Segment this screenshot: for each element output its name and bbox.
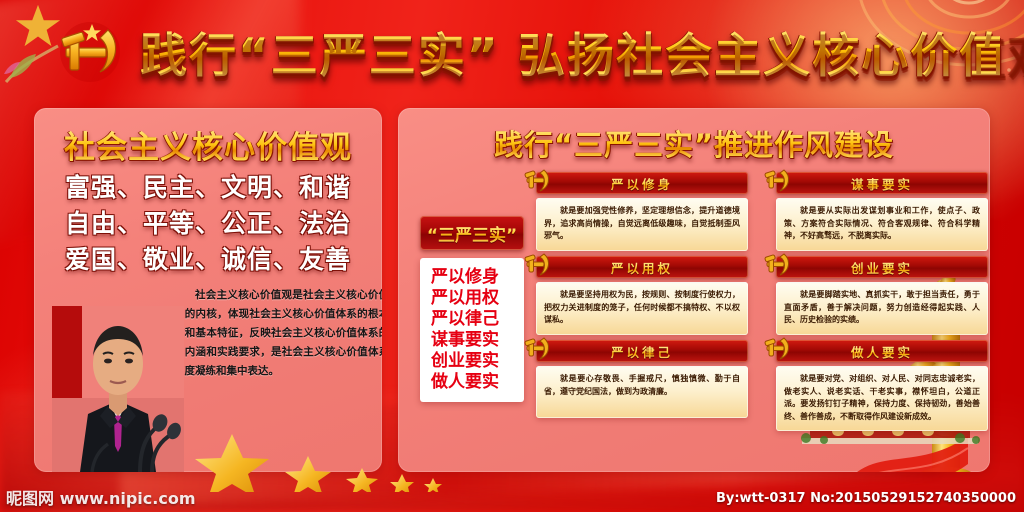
- poster-canvas: 践行“三严三实” 弘扬社会主义核心价值观 社会主义核心价值观 富强、民主、文明、…: [0, 0, 1024, 512]
- info-card-header: 做人要实: [776, 340, 988, 362]
- sanyansanshi-item: 严以律己: [426, 309, 518, 330]
- sanyansanshi-item-label: 严以用权: [431, 288, 499, 309]
- info-card-text: 就是要脚踏实地、真抓实干，敢于担当责任，勇于直面矛盾，善于解决问题，努力创造经得…: [776, 282, 988, 335]
- watermark-left: 昵图网 www.nipic.com: [6, 485, 196, 509]
- info-card-title: 严以修身: [611, 174, 673, 193]
- sanyansanshi-item-label: 谋事要实: [431, 330, 499, 351]
- info-card-header: 谋事要实: [776, 172, 988, 194]
- info-card-text: 就是要从实际出发谋划事业和工作，使点子、政策、方案符合实际情况、符合客观规律、符…: [776, 198, 988, 251]
- gold-stars-icon: [190, 432, 450, 492]
- sanyansanshi-caption-text: “三严三实”: [427, 221, 517, 246]
- info-card-text: 就是要加强党性修养，坚定理想信念，提升道德境界，追求高尚情操，自觉远离低级趣味，…: [536, 198, 748, 251]
- info-card-text: 就是要心存敬畏、手握戒尺，慎独慎微、勤于自省，遵守党纪国法，做到为政清廉。: [536, 366, 748, 418]
- party-emblem-icon: [520, 250, 554, 278]
- sanyansanshi-item: 做人要实: [426, 372, 518, 393]
- sanyansanshi-block: “三严三实” 严以修身 严以用权 严以律己 谋事要实 创业要实: [420, 216, 524, 402]
- core-values-list: 富强、民主、文明、和谐 自由、平等、公正、法治 爱国、敬业、诚信、友善: [34, 170, 382, 278]
- page-title: 践行“三严三实” 弘扬社会主义核心价值观: [140, 18, 1000, 84]
- info-card-title: 创业要实: [851, 258, 913, 277]
- info-card: 严以修身 就是要加强党性修养，坚定理想信念，提升道德境界，追求高尚情操，自觉远离…: [536, 172, 748, 251]
- sanyansanshi-item: 创业要实: [426, 351, 518, 372]
- info-card-title: 严以用权: [611, 258, 673, 277]
- right-panel-heading: 践行“三严三实”推进作风建设: [398, 122, 990, 164]
- info-card: 严以律己 就是要心存敬畏、手握戒尺，慎独慎微、勤于自省，遵守党纪国法，做到为政清…: [536, 340, 748, 418]
- sanyansanshi-item-label: 创业要实: [431, 351, 499, 372]
- sanyansanshi-caption: “三严三实”: [420, 216, 524, 250]
- party-emblem-icon: [760, 250, 794, 278]
- info-card-header: 严以用权: [536, 256, 748, 278]
- info-card-header: 严以律己: [536, 340, 748, 362]
- info-card: 严以用权 就是要坚持用权为民，按规则、按制度行使权力，把权力关进制度的笼子，任何…: [536, 256, 748, 335]
- party-hammer-sickle-emblem-icon: [48, 18, 132, 86]
- core-values-paragraph: 社会主义核心价值观是社会主义核心价值体系的内核，体现社会主义核心价值体系的根本性…: [174, 286, 382, 381]
- party-emblem-icon: [520, 166, 554, 194]
- core-value-line: 富强、民主、文明、和谐: [34, 170, 382, 206]
- sanyansanshi-item-label: 严以律己: [431, 309, 499, 330]
- info-card-title: 严以律己: [611, 342, 673, 361]
- info-card-header: 创业要实: [776, 256, 988, 278]
- core-value-line: 自由、平等、公正、法治: [34, 206, 382, 242]
- party-emblem-icon: [760, 334, 794, 362]
- left-panel: 社会主义核心价值观 富强、民主、文明、和谐 自由、平等、公正、法治 爱国、敬业、…: [34, 108, 382, 472]
- party-emblem-icon: [760, 166, 794, 194]
- info-card: 创业要实 就是要脚踏实地、真抓实干，敢于担当责任，勇于直面矛盾，善于解决问题，努…: [776, 256, 988, 335]
- sanyansanshi-item-label: 严以修身: [431, 267, 499, 288]
- info-card: 做人要实 就是要对党、对组织、对人民、对同志忠诚老实，做老实人、说老实话、干老实…: [776, 340, 988, 431]
- core-value-line: 爱国、敬业、诚信、友善: [34, 242, 382, 278]
- info-card-title: 做人要实: [851, 342, 913, 361]
- leader-portrait-photo: [52, 306, 184, 472]
- sanyansanshi-item: 严以用权: [426, 288, 518, 309]
- info-card-title: 谋事要实: [851, 174, 913, 193]
- watermark-right: By:wtt-0317 No:20150529152740350000: [716, 491, 1016, 506]
- sanyansanshi-list: 严以修身 严以用权 严以律己 谋事要实 创业要实 做人要实: [420, 258, 524, 402]
- info-card-header: 严以修身: [536, 172, 748, 194]
- sanyansanshi-item-label: 做人要实: [431, 372, 499, 393]
- sanyansanshi-item: 谋事要实: [426, 330, 518, 351]
- party-emblem-icon: [520, 334, 554, 362]
- left-panel-heading: 社会主义核心价值观: [34, 122, 382, 167]
- info-card: 谋事要实 就是要从实际出发谋划事业和工作，使点子、政策、方案符合实际情况、符合客…: [776, 172, 988, 251]
- info-card-text: 就是要坚持用权为民，按规则、按制度行使权力，把权力关进制度的笼子，任何时候都不搞…: [536, 282, 748, 335]
- info-card-text: 就是要对党、对组织、对人民、对同志忠诚老实，做老实人、说老实话、干老实事，襟怀坦…: [776, 366, 988, 431]
- sanyansanshi-item: 严以修身: [426, 267, 518, 288]
- poster-header: 践行“三严三实” 弘扬社会主义核心价值观: [0, 0, 1024, 100]
